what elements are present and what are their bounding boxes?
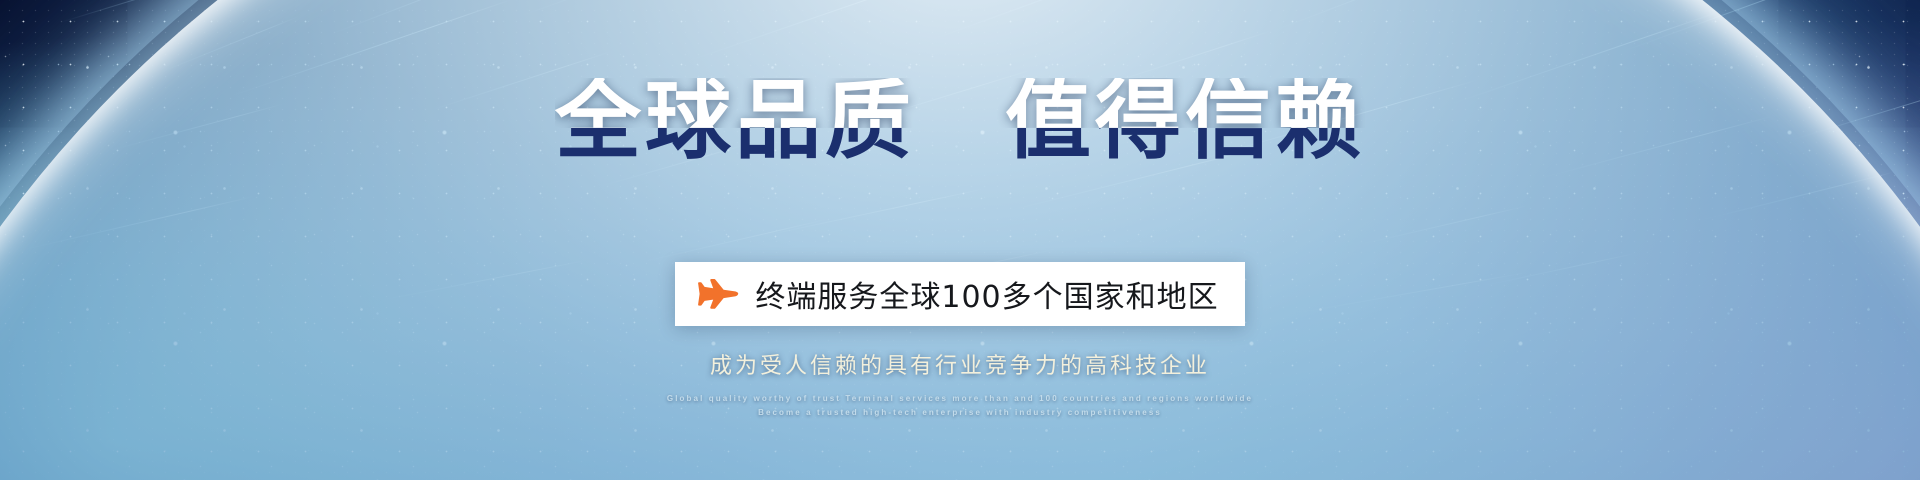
- fineprint-line-2: Become a trusted high-tech enterprise wi…: [667, 406, 1253, 420]
- hero-banner: 全球品质 值得信赖 全球品质 值得信赖 全球品质 值得信赖 终端服务全球100多…: [0, 0, 1920, 480]
- fineprint: Global quality worthy of trust Terminal …: [667, 392, 1253, 420]
- subtitle-text: 终端服务全球100多个国家和地区: [755, 272, 1218, 316]
- tagline: 成为受人信赖的具有行业竞争力的高科技企业: [710, 348, 1210, 380]
- subtitle-bar: 终端服务全球100多个国家和地区: [675, 262, 1244, 326]
- page-title: 全球品质 值得信赖 全球品质 值得信赖 全球品质 值得信赖: [555, 78, 1365, 178]
- fineprint-line-1: Global quality worthy of trust Terminal …: [667, 392, 1253, 406]
- banner-content: 全球品质 值得信赖 全球品质 值得信赖 全球品质 值得信赖 终端服务全球100多…: [0, 0, 1920, 480]
